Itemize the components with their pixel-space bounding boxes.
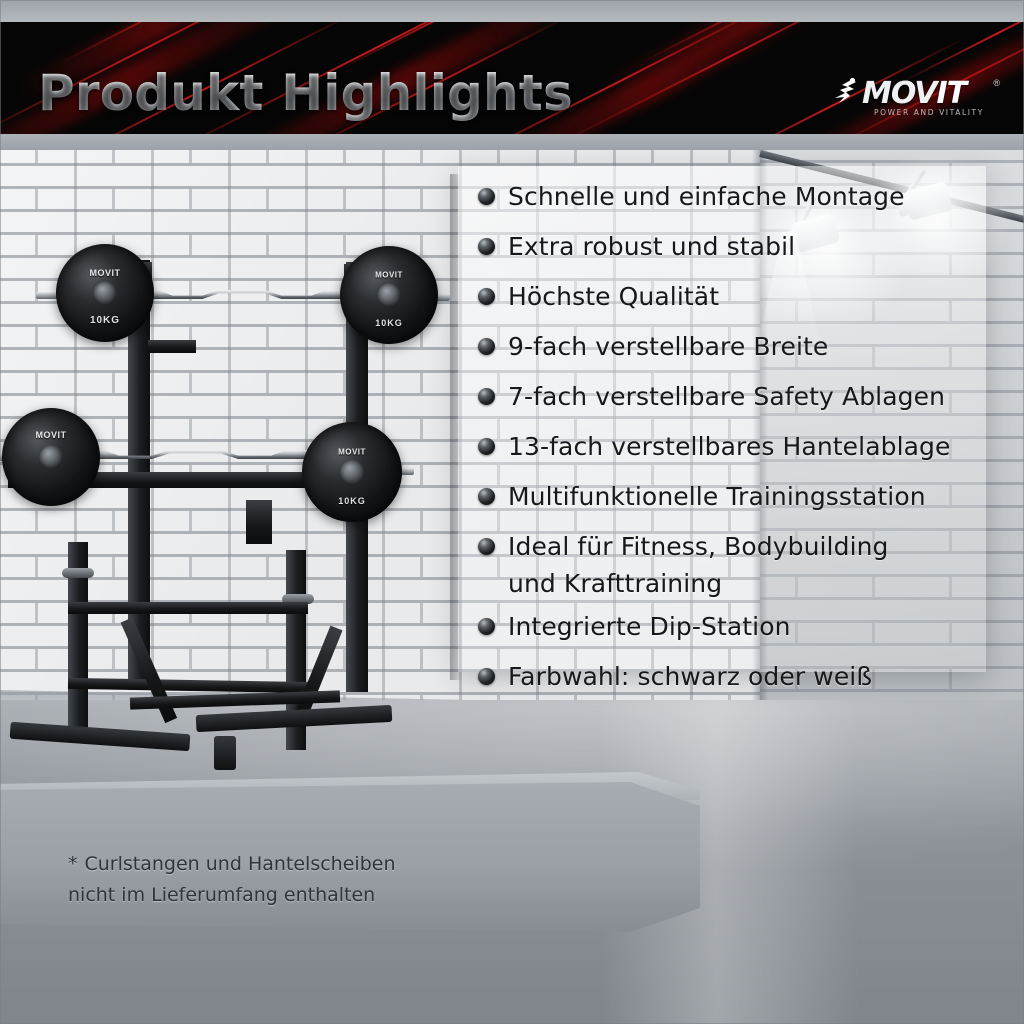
page-title: Produkt Highlights	[38, 64, 573, 122]
curl-bar-lower	[68, 450, 322, 459]
highlight-item-label: Höchste Qualität	[508, 278, 719, 315]
highlight-item: Multifunktionelle Trainingsstation	[478, 478, 998, 522]
highlights-list: Schnelle und einfache MontageExtra robus…	[478, 178, 998, 708]
highlight-item: Farbwahl: schwarz oder weiß	[478, 658, 998, 702]
bullet-dot-icon	[478, 338, 495, 355]
logo-wordmark: MOVIT	[862, 76, 966, 111]
logo-tagline: POWER AND VITALITY	[874, 108, 984, 117]
plate-brand-label: MOVIT	[56, 268, 154, 278]
curl-bar-upper	[126, 290, 358, 299]
bullet-dot-icon	[478, 238, 495, 255]
footnote-text: Curlstangen und Hantelscheiben nicht im …	[68, 853, 396, 906]
squat-rack: MOVIT 10KG MOVIT 10KG MOVIT MOVIT 10KG	[0, 150, 470, 800]
rack-cross-brace-lower	[68, 678, 318, 693]
highlight-item: Höchste Qualität	[478, 278, 998, 322]
weight-plate-lower-right: MOVIT 10KG	[302, 422, 402, 522]
plate-weight-label: 10KG	[340, 318, 438, 328]
highlight-item: Schnelle und einfache Montage	[478, 178, 998, 222]
logo-it: IT	[937, 76, 967, 111]
rack-foot-left	[10, 722, 191, 752]
highlight-item-label: Extra robust und stabil	[508, 228, 795, 265]
gym-scene: MOVIT 10KG MOVIT 10KG MOVIT MOVIT 10KG	[0, 0, 1024, 1024]
highlight-item: 13-fach verstellbares Hantelablage	[478, 428, 998, 472]
plate-weight-label: 10KG	[56, 315, 154, 326]
product-highlights-image: MOVIT 10KG MOVIT 10KG MOVIT MOVIT 10KG	[0, 0, 1024, 1024]
plate-brand-label: MOVIT	[302, 448, 402, 457]
highlight-item-label: Schnelle und einfache Montage	[508, 178, 905, 215]
rack-cross-brace-upper	[68, 602, 308, 614]
footnote-asterisk: *	[68, 853, 78, 875]
bullet-dot-icon	[478, 188, 495, 205]
header-bottom-margin	[0, 134, 1024, 150]
logo-registered-mark: ®	[993, 78, 1000, 88]
bullet-dot-icon	[478, 668, 495, 685]
plate-brand-label: MOVIT	[340, 271, 438, 280]
weight-plate-upper-left: MOVIT 10KG	[56, 244, 154, 342]
footnote: *Curlstangen und Hantelscheiben nicht im…	[68, 818, 488, 911]
highlight-item-label: Ideal für Fitness, Bodybuilding und Kraf…	[508, 528, 889, 602]
rack-foot-toe	[214, 736, 236, 770]
weight-plate-upper-right: MOVIT 10KG	[340, 246, 438, 344]
adjust-knob-left	[62, 568, 94, 578]
dip-station-bracket	[246, 500, 272, 544]
header-banner: Produkt Highlights MOVIT ® POWER AND VIT…	[0, 22, 1024, 134]
bullet-dot-icon	[478, 438, 495, 455]
highlight-item: 9-fach verstellbare Breite	[478, 328, 998, 372]
movit-runner-icon	[830, 76, 860, 106]
bullet-dot-icon	[478, 618, 495, 635]
highlight-item: Integrierte Dip-Station	[478, 608, 998, 652]
highlight-item-label: Integrierte Dip-Station	[508, 608, 791, 645]
bullet-dot-icon	[478, 288, 495, 305]
highlight-item-label: Multifunktionelle Trainingsstation	[508, 478, 926, 515]
highlight-item-label: 7-fach verstellbare Safety Ablagen	[508, 378, 945, 415]
highlight-item: Ideal für Fitness, Bodybuilding und Kraf…	[478, 528, 998, 602]
plate-brand-label: MOVIT	[2, 430, 100, 440]
bullet-dot-icon	[478, 538, 495, 555]
weight-plate-lower-left: MOVIT	[2, 408, 100, 506]
bullet-dot-icon	[478, 488, 495, 505]
movit-logo: MOVIT ® POWER AND VITALITY	[830, 74, 1002, 126]
highlight-item-label: Farbwahl: schwarz oder weiß	[508, 658, 872, 695]
top-margin	[0, 0, 1024, 22]
highlight-item-label: 13-fach verstellbares Hantelablage	[508, 428, 951, 465]
highlight-item: Extra robust und stabil	[478, 228, 998, 272]
bullet-dot-icon	[478, 388, 495, 405]
highlight-item: 7-fach verstellbare Safety Ablagen	[478, 378, 998, 422]
highlight-item-label: 9-fach verstellbare Breite	[508, 328, 828, 365]
logo-mov: MOV	[862, 76, 937, 111]
rack-safety-hook-left	[148, 340, 196, 353]
plate-weight-label: 10KG	[302, 496, 402, 506]
